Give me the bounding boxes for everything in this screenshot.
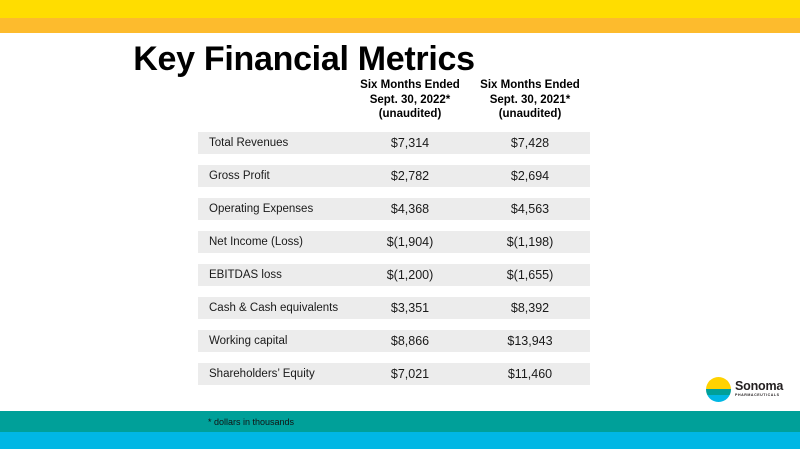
- table-row: Net Income (Loss) $(1,904) $(1,198): [198, 231, 590, 253]
- sun-circle-icon: [706, 377, 731, 402]
- row-label: Total Revenues: [198, 137, 350, 149]
- row-value-2022: $3,351: [350, 301, 470, 315]
- page-title: Key Financial Metrics: [0, 40, 800, 79]
- table-row: Gross Profit $2,782 $2,694: [198, 165, 590, 187]
- column-header-2022-line3: (unaudited): [350, 107, 470, 122]
- bottom-teal-band: [0, 411, 800, 432]
- row-value-2021: $4,563: [470, 202, 590, 216]
- row-value-2022: $7,314: [350, 136, 470, 150]
- logo-tagline: PHARMACEUTICALS: [735, 393, 780, 397]
- row-value-2021: $(1,655): [470, 268, 590, 282]
- column-header-2022-line2: Sept. 30, 2022*: [350, 93, 470, 108]
- row-value-2022: $7,021: [350, 367, 470, 381]
- column-header-2021-line3: (unaudited): [470, 107, 590, 122]
- table-row: Operating Expenses $4,368 $4,563: [198, 198, 590, 220]
- row-label: Net Income (Loss): [198, 236, 350, 248]
- financial-metrics-table: Six Months Ended Sept. 30, 2022* (unaudi…: [198, 78, 590, 396]
- row-label: EBITDAS loss: [198, 269, 350, 281]
- row-value-2022: $(1,904): [350, 235, 470, 249]
- column-header-2022-line1: Six Months Ended: [350, 78, 470, 93]
- sun-segment: [706, 377, 731, 389]
- row-value-2021: $(1,198): [470, 235, 590, 249]
- table-row: Working capital $8,866 $13,943: [198, 330, 590, 352]
- row-label: Operating Expenses: [198, 203, 350, 215]
- row-value-2022: $8,866: [350, 334, 470, 348]
- row-value-2022: $2,782: [350, 169, 470, 183]
- column-header-2021-line2: Sept. 30, 2021*: [470, 93, 590, 108]
- row-value-2021: $11,460: [470, 367, 590, 381]
- column-header-2021: Six Months Ended Sept. 30, 2021* (unaudi…: [470, 78, 590, 122]
- row-value-2021: $8,392: [470, 301, 590, 315]
- bottom-cyan-band: [0, 432, 800, 449]
- top-amber-band: [0, 18, 800, 33]
- table-row: Cash & Cash equivalents $3,351 $8,392: [198, 297, 590, 319]
- table-row: Total Revenues $7,314 $7,428: [198, 132, 590, 154]
- sonoma-logo: Sonoma PHARMACEUTICALS: [706, 374, 792, 408]
- top-yellow-band: [0, 0, 800, 18]
- row-value-2022: $4,368: [350, 202, 470, 216]
- logo-wordmark: Sonoma: [735, 379, 783, 393]
- row-value-2021: $7,428: [470, 136, 590, 150]
- column-header-2022: Six Months Ended Sept. 30, 2022* (unaudi…: [350, 78, 470, 122]
- table-row: Shareholders’ Equity $7,021 $11,460: [198, 363, 590, 385]
- slide-canvas: Key Financial Metrics Six Months Ended S…: [0, 0, 800, 449]
- row-label: Gross Profit: [198, 170, 350, 182]
- row-label: Cash & Cash equivalents: [198, 302, 350, 314]
- table-row: EBITDAS loss $(1,200) $(1,655): [198, 264, 590, 286]
- footnote-dollars-in-thousands: * dollars in thousands: [208, 417, 294, 427]
- table-header-row: Six Months Ended Sept. 30, 2022* (unaudi…: [198, 78, 590, 132]
- row-value-2021: $13,943: [470, 334, 590, 348]
- row-value-2021: $2,694: [470, 169, 590, 183]
- column-header-2021-line1: Six Months Ended: [470, 78, 590, 93]
- row-label: Working capital: [198, 335, 350, 347]
- water-segment: [706, 395, 731, 403]
- row-label: Shareholders’ Equity: [198, 368, 350, 380]
- row-value-2022: $(1,200): [350, 268, 470, 282]
